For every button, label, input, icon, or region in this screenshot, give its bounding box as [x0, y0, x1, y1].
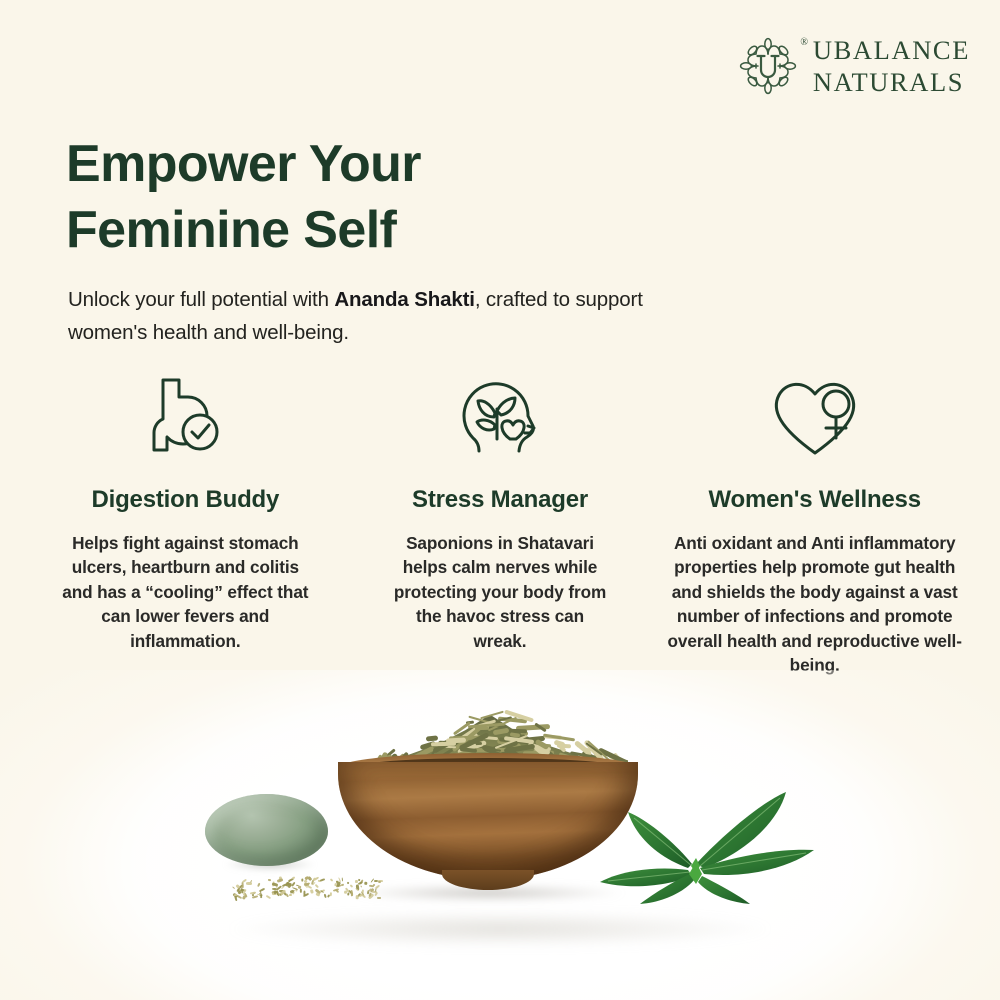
feature-item-stress: Stress Manager Saponions in Shatavari he… [343, 368, 658, 653]
feature-list: Digestion Buddy Helps fight against stom… [28, 368, 972, 678]
subheadline: Unlock your full potential with Ananda S… [68, 283, 708, 349]
stomach-check-icon [34, 368, 337, 464]
bowl-body [338, 762, 638, 880]
bowl-foot [442, 870, 534, 890]
product-name: Ananda Shakti [334, 288, 474, 311]
feature-item-womens-wellness: Women's Wellness Anti oxidant and Anti i… [657, 368, 972, 678]
brand-logo: ® UBALANCE NATURALS [737, 34, 970, 99]
feature-title: Digestion Buddy [34, 486, 337, 514]
subheadline-prefix: Unlock your full potential with [68, 288, 334, 311]
feature-body: Helps fight against stomach ulcers, hear… [54, 531, 316, 653]
head-plant-heart-icon [349, 368, 652, 464]
feature-title: Women's Wellness [663, 486, 966, 514]
page-title: Empower Your Feminine Self [66, 131, 666, 264]
product-photo [0, 670, 1000, 1000]
registered-trademark-icon: ® [800, 37, 808, 48]
green-stone [205, 794, 328, 866]
brand-name-line-1: UBALANCE [813, 34, 970, 66]
heart-female-symbol-icon [663, 368, 966, 464]
headline-line-2: Feminine Self [66, 197, 666, 264]
feature-item-digestion: Digestion Buddy Helps fight against stom… [28, 368, 343, 653]
headline-line-1: Empower Your [66, 131, 666, 198]
brand-name: UBALANCE NATURALS [813, 34, 970, 99]
brand-name-line-2: NATURALS [813, 66, 970, 98]
feature-body: Anti oxidant and Anti inflammatory prope… [663, 531, 966, 678]
photo-stage [0, 670, 1000, 1000]
mint-sprig [600, 778, 830, 904]
feature-title: Stress Manager [349, 486, 652, 514]
marketing-banner: ® UBALANCE NATURALS Empower Your Feminin… [0, 0, 1000, 1000]
ubalance-monogram-icon: ® [737, 35, 799, 97]
feature-body: Saponions in Shatavari helps calm nerves… [389, 531, 611, 653]
wooden-bowl [338, 762, 638, 890]
